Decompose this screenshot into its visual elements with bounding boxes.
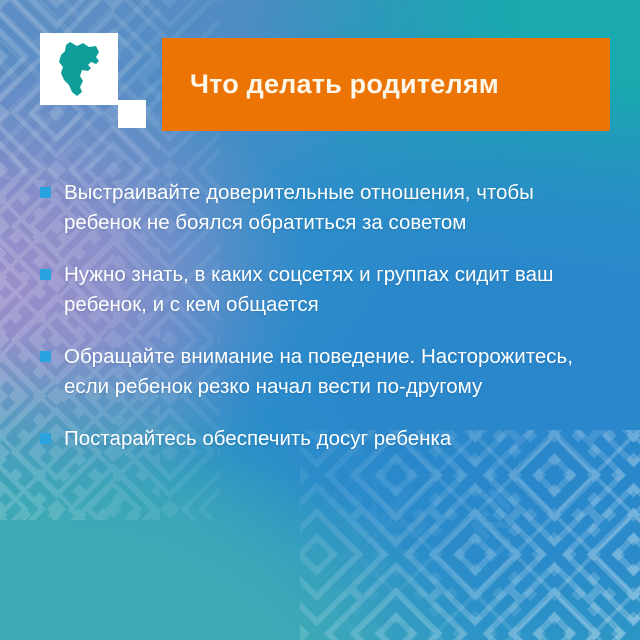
list-item: Нужно знать, в каких соцсетях и группах … [40, 260, 600, 320]
page-title: Что делать родителям [190, 69, 499, 100]
belarus-map-icon [52, 40, 106, 98]
list-item: Обращайте внимание на поведение. Насторо… [40, 342, 600, 402]
list-item: Постарайтесь обеспечить досуг ребенка [40, 424, 600, 454]
bullet-square-icon [40, 187, 51, 198]
poster-canvas: Что делать родителям Выстраивайте довери… [0, 0, 640, 640]
list-item-label: Обращайте внимание на поведение. Насторо… [64, 342, 584, 402]
bullet-square-icon [40, 351, 51, 362]
bullet-square-icon [40, 433, 51, 444]
list-item-label: Постарайтесь обеспечить досуг ребенка [64, 424, 451, 454]
advice-list: Выстраивайте доверительные отношения, чт… [40, 178, 600, 476]
list-item-label: Выстраивайте доверительные отношения, чт… [64, 178, 584, 238]
title-banner: Что делать родителям [162, 38, 610, 131]
list-item-label: Нужно знать, в каких соцсетях и группах … [64, 260, 584, 320]
logo-plate [40, 33, 118, 105]
list-item: Выстраивайте доверительные отношения, чт… [40, 178, 600, 238]
bullet-square-icon [40, 269, 51, 280]
logo-accent-square [118, 100, 146, 128]
